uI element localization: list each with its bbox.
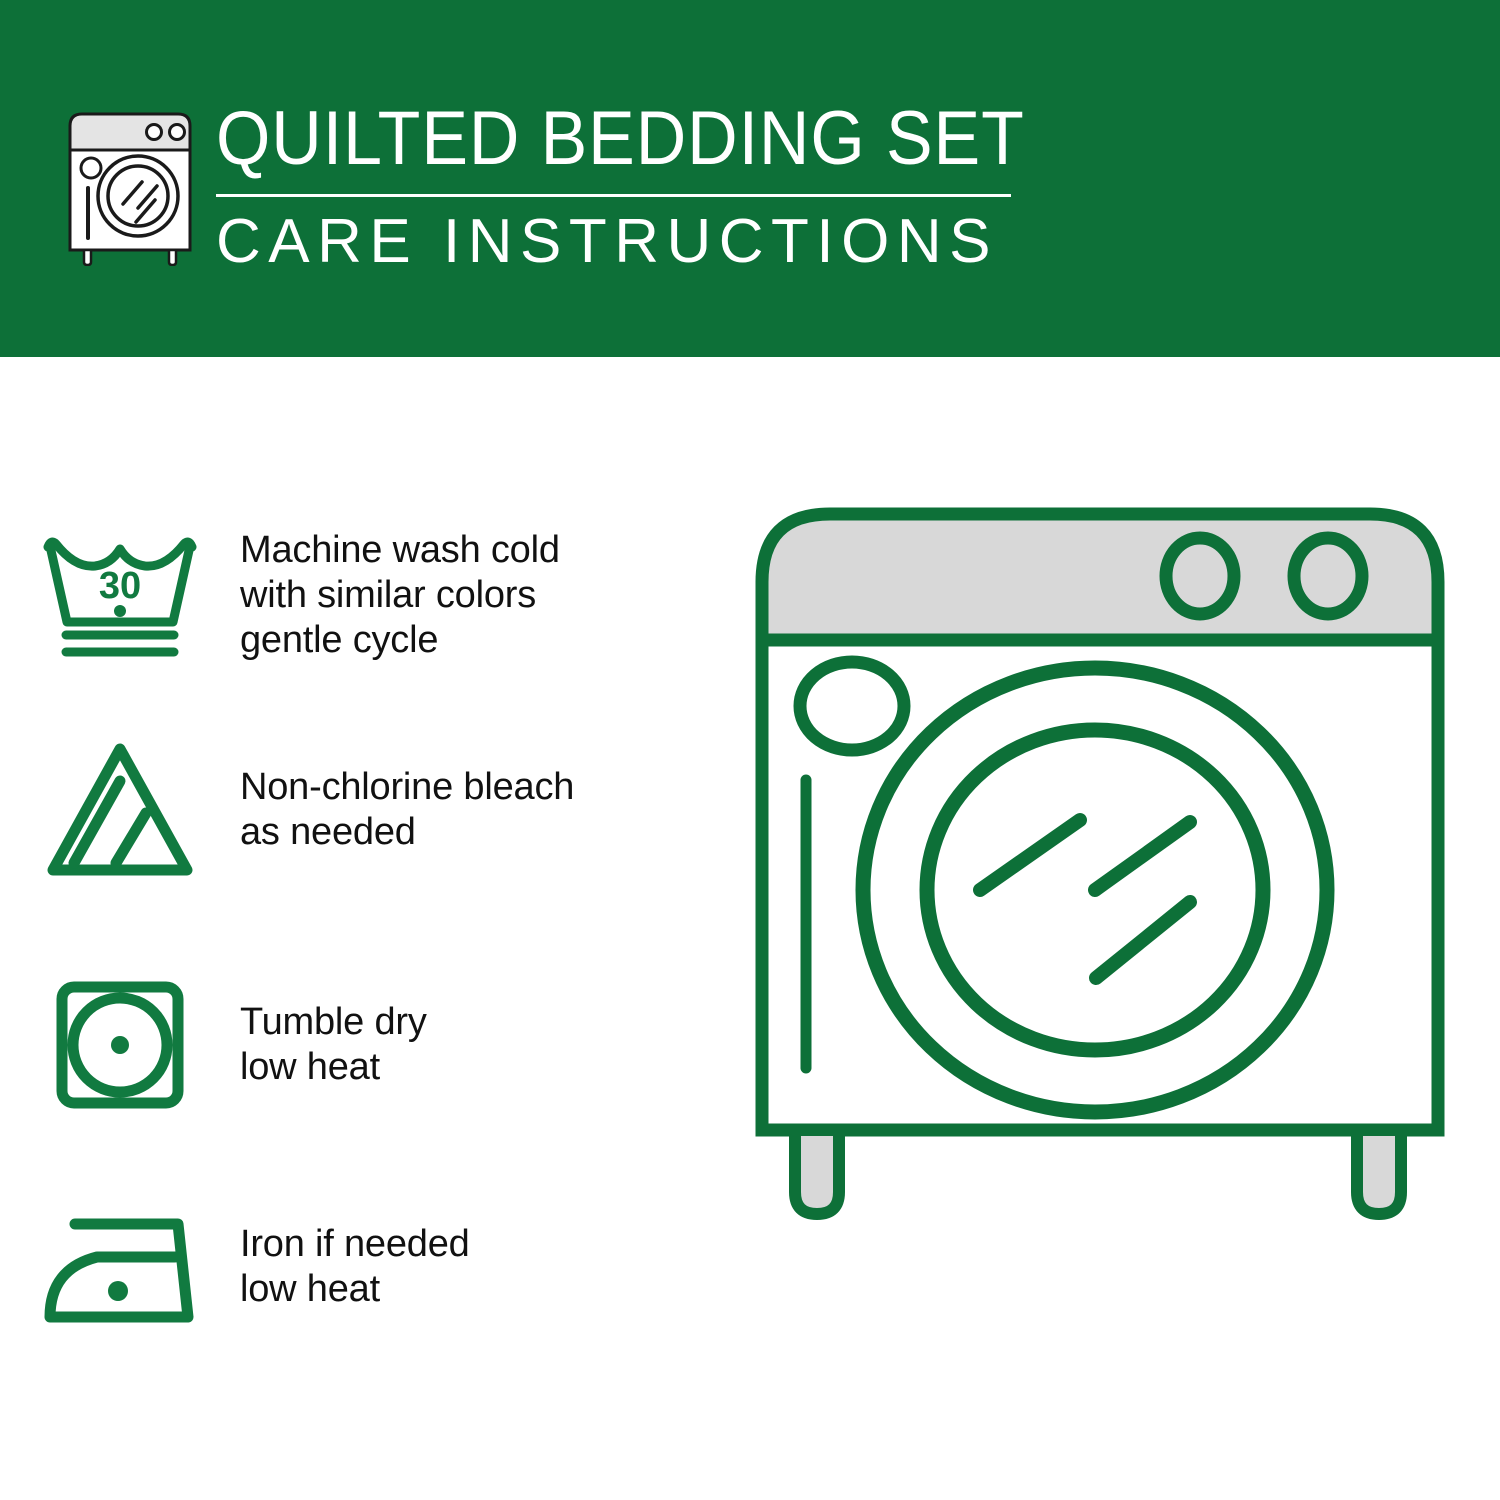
care-text-line: as needed (240, 810, 574, 855)
page-subtitle: CARE INSTRUCTIONS (216, 209, 1036, 275)
knob-left (1166, 538, 1234, 614)
care-row-iron: Iron if needed low heat (0, 1187, 730, 1347)
leg-left (795, 1130, 839, 1214)
care-row-tumble-dry: Tumble dry low heat (0, 965, 730, 1125)
care-text-line: Machine wash cold (240, 528, 560, 573)
title-divider (216, 194, 1011, 197)
care-text-machine-wash: Machine wash cold with similar colors ge… (240, 528, 560, 663)
non-chlorine-bleach-triangle-icon (0, 735, 240, 885)
detergent-dispenser-circle (800, 662, 904, 750)
knob-right (1294, 538, 1362, 614)
washing-machine-icon (62, 104, 198, 266)
care-row-machine-wash: 30 Machine wash cold with similar colors… (0, 505, 730, 685)
care-text-tumble-dry: Tumble dry low heat (240, 1000, 427, 1090)
washing-machine-illustration (740, 490, 1460, 1450)
tumble-dry-low-icon (0, 975, 240, 1115)
svg-text:30: 30 (99, 565, 141, 607)
care-text-line: low heat (240, 1045, 427, 1090)
iron-low-heat-icon (0, 1207, 240, 1327)
wash-tub-30-gentle-icon: 30 (0, 530, 240, 660)
header-title-block: QUILTED BEDDING SET CARE INSTRUCTIONS (216, 98, 1036, 275)
care-text-line: gentle cycle (240, 618, 560, 663)
leg-right (1357, 1130, 1401, 1214)
care-text-iron: Iron if needed low heat (240, 1222, 470, 1312)
care-text-line: Tumble dry (240, 1000, 427, 1045)
care-label-page: QUILTED BEDDING SET CARE INSTRUCTIONS 30 (0, 0, 1500, 1500)
page-title: QUILTED BEDDING SET (216, 98, 970, 180)
care-text-line: low heat (240, 1267, 470, 1312)
header-banner: QUILTED BEDDING SET CARE INSTRUCTIONS (0, 0, 1500, 357)
care-row-bleach: Non-chlorine bleach as needed (0, 725, 730, 895)
care-text-line: Non-chlorine bleach (240, 765, 574, 810)
care-text-line: Iron if needed (240, 1222, 470, 1267)
care-instruction-list: 30 Machine wash cold with similar colors… (0, 357, 730, 1500)
care-text-line: with similar colors (240, 573, 560, 618)
care-text-bleach: Non-chlorine bleach as needed (240, 765, 574, 855)
